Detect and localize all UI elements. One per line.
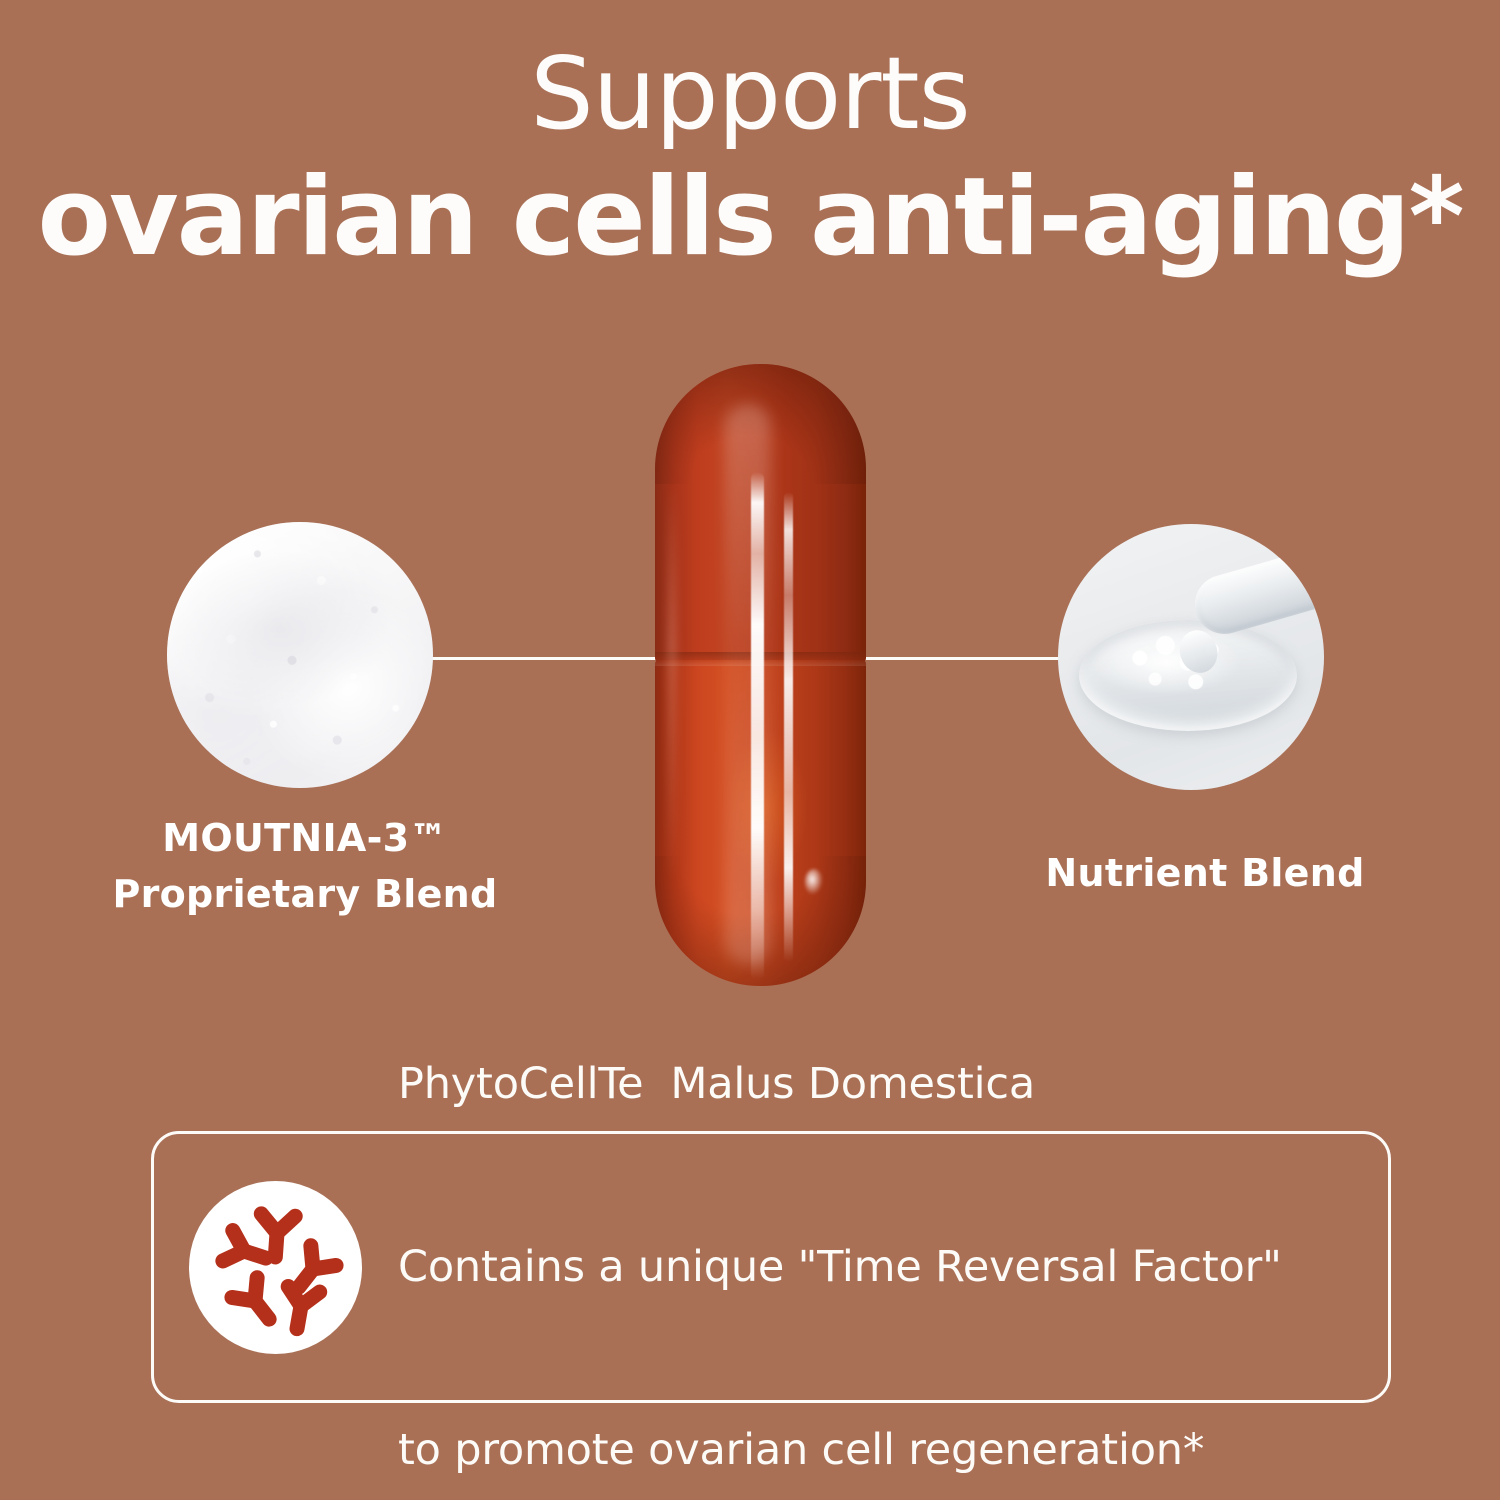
dropper-pipette-icon: [1188, 541, 1324, 640]
ingredient-image-gel-dropper: [1058, 524, 1324, 790]
feature-card-line3: to promote ovarian cell regeneration*: [398, 1420, 1388, 1481]
capsule-highlight-dot: [805, 869, 823, 895]
ingredient-label-left-line1: MOUTNIA-3™: [60, 810, 550, 866]
ingredient-label-left: MOUTNIA-3™ Proprietary Blend: [60, 810, 550, 922]
capsule-soft-sheen: [725, 404, 771, 964]
headline-line-1: Supports: [0, 34, 1500, 154]
feature-card-line1: PhytoCellTe Malus Domestica: [398, 1054, 1388, 1115]
feature-card-text: PhytoCellTe Malus Domestica Contains a u…: [398, 932, 1388, 1500]
capsule-edge-sheen: [667, 484, 677, 884]
ingredient-label-left-line2: Proprietary Blend: [60, 866, 550, 922]
headline-line-2: ovarian cells anti-aging*: [8, 154, 1493, 282]
capsule-highlight-primary: [751, 472, 764, 980]
ingredient-label-right-line1: Nutrient Blend: [1000, 845, 1410, 901]
feature-card: PhytoCellTe Malus Domestica Contains a u…: [151, 1131, 1391, 1403]
capsule-highlight-secondary: [784, 492, 793, 962]
product-infographic: Supports ovarian cells anti-aging* MOUTN…: [0, 0, 1500, 1500]
ingredient-label-right: Nutrient Blend: [1000, 845, 1410, 901]
white-powder-photo: [167, 522, 433, 788]
antibody-cluster-icon: [189, 1181, 362, 1354]
gel-dropper-photo: [1058, 524, 1324, 790]
page-title: Supports ovarian cells anti-aging*: [0, 34, 1500, 282]
ingredient-image-white-powder: [167, 522, 433, 788]
feature-card-line2: Contains a unique "Time Reversal Factor": [398, 1237, 1388, 1298]
red-capsule-photo: [655, 364, 866, 986]
